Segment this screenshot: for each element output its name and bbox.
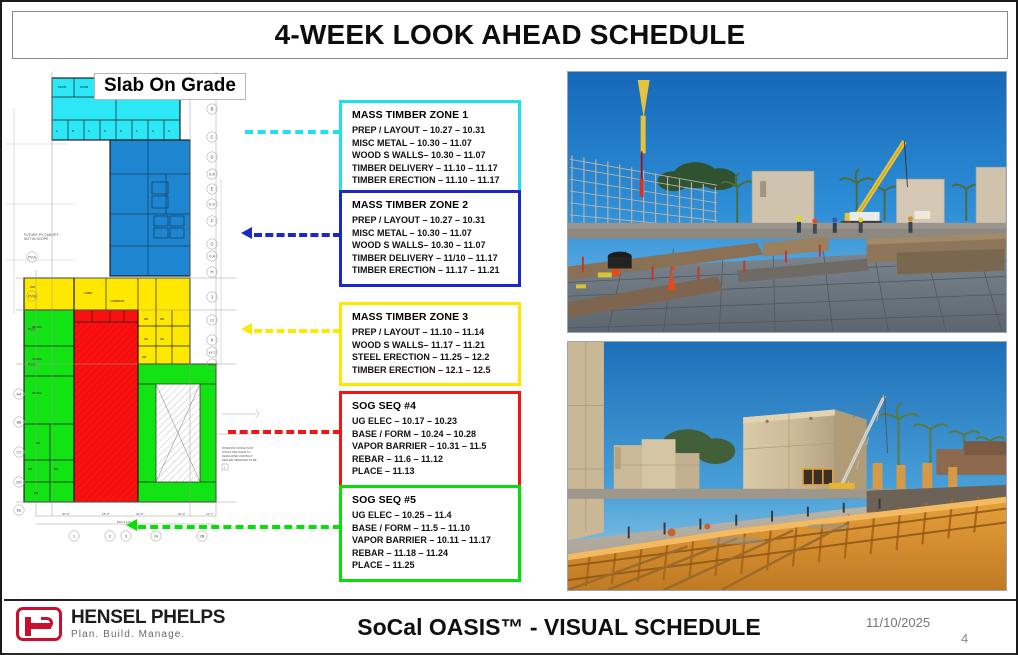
leader-line-sog-5 — [138, 525, 341, 529]
callout-line: TIMBER ERECTION – 11.17 – 11.21 — [352, 264, 510, 277]
floor-plan-svg: FUTURE PV CANOPY NOT IN SCOPE — [6, 64, 324, 592]
svg-text:ROOM: ROOM — [58, 85, 66, 89]
svg-text:DEVELOPED AND BUILT: DEVELOPED AND BUILT — [222, 454, 253, 458]
svg-text:DD: DD — [16, 480, 22, 484]
svg-text:40'-0": 40'-0" — [62, 512, 70, 516]
callout-line: WOOD S WALLS– 11.17 – 11.21 — [352, 339, 510, 352]
svg-text:CORRIDOR: CORRIDOR — [110, 299, 124, 303]
callout-line: STEEL ERECTION – 11.25 – 12.2 — [352, 351, 510, 364]
page-number: 4 — [961, 631, 968, 646]
page-title: 4-WEEK LOOK AHEAD SCHEDULE — [275, 19, 746, 51]
callout-line: WOOD S WALLS– 10.30 – 11.07 — [352, 149, 510, 162]
callout-title: MASS TIMBER ZONE 2 — [352, 199, 510, 211]
zone-2-fill — [110, 140, 190, 276]
svg-text:SECURE SEPARATE TO BE: SECURE SEPARATE TO BE — [222, 458, 257, 462]
callout-line: MISC METAL – 10.30 – 11.07 — [352, 137, 510, 150]
svg-text:SR: SR — [144, 337, 148, 341]
callout-sog-seq-4[interactable]: SOG SEQ #4 UG ELEC – 10.17 – 10.23 BASE … — [339, 391, 521, 488]
svg-text:E: E — [211, 186, 214, 191]
hensel-phelps-logo: HENSEL PHELPS Plan. Build. Manage. — [16, 607, 225, 641]
arrowhead-sog-5-icon — [126, 519, 137, 531]
svg-text:PV.A: PV.A — [28, 255, 36, 259]
svg-text:NOTES SEE ISSUE TO: NOTES SEE ISSUE TO — [222, 450, 251, 454]
svg-text:OFF: OFF — [30, 285, 36, 289]
title-bar: 4-WEEK LOOK AHEAD SCHEDULE — [12, 11, 1008, 59]
svg-text:C: C — [88, 129, 90, 133]
callout-line: PREP / LAYOUT – 11.10 – 11.14 — [352, 326, 510, 339]
callout-line: WOOD S WALLS– 10.30 – 11.07 — [352, 239, 510, 252]
callout-line: UG ELEC – 10.25 – 11.4 — [352, 509, 510, 522]
callout-title: MASS TIMBER ZONE 3 — [352, 311, 510, 323]
svg-text:D: D — [210, 154, 213, 159]
callout-line: TIMBER DELIVERY – 11/10 – 11.17 — [352, 252, 510, 265]
slide-canvas: 4-WEEK LOOK AHEAD SCHEDULE FUTURE PV CAN… — [0, 0, 1018, 655]
svg-text:RM: RM — [144, 317, 148, 321]
svg-text:ROOM: ROOM — [80, 85, 88, 89]
svg-text:RM: RM — [142, 355, 146, 359]
callout-line: VAPOR BARRIER – 10.31 – 11.5 — [352, 440, 510, 453]
svg-text:G: G — [210, 241, 213, 246]
svg-text:RM: RM — [160, 317, 164, 321]
callout-title: SOG SEQ #4 — [352, 400, 510, 412]
callout-line: PREP / LAYOUT – 10.27 – 10.31 — [352, 214, 510, 227]
svg-text:RM: RM — [36, 441, 40, 445]
svg-text:E.S: E.S — [209, 202, 215, 206]
leader-line-sog-4 — [228, 430, 341, 434]
svg-text:KK.3: KK.3 — [209, 350, 216, 354]
svg-text:INTERIOR CONSULTANT: INTERIOR CONSULTANT — [222, 446, 254, 450]
svg-text:H: H — [168, 129, 170, 133]
callout-line: UG ELEC – 10.17 – 10.23 — [352, 415, 510, 428]
callout-mass-timber-zone-3[interactable]: MASS TIMBER ZONE 3 PREP / LAYOUT – 11.10… — [339, 302, 521, 386]
callout-line: TIMBER ERECTION – 11.10 – 11.17 — [352, 174, 510, 187]
svg-text:B: B — [72, 129, 74, 133]
callout-mass-timber-zone-2[interactable]: MASS TIMBER ZONE 2 PREP / LAYOUT – 10.27… — [339, 190, 521, 287]
svg-text:G.A: G.A — [209, 254, 216, 258]
callout-title: MASS TIMBER ZONE 1 — [352, 109, 510, 121]
svg-text:18'-0": 18'-0" — [102, 512, 110, 516]
svg-text:EE: EE — [17, 508, 22, 512]
svg-text:BB: BB — [17, 420, 22, 424]
svg-text:A: A — [56, 129, 58, 133]
svg-text:PV.C: PV.C — [28, 327, 36, 331]
svg-text:CC: CC — [16, 450, 22, 454]
footer-title: SoCal OASIS™ - VISUAL SCHEDULE — [324, 614, 794, 641]
leader-line-zone-3 — [254, 329, 341, 333]
svg-text:J.2: J.2 — [210, 318, 215, 322]
callout-line: BASE / FORM – 10.24 – 10.28 — [352, 428, 510, 441]
callout-line: PLACE – 11.13 — [352, 465, 510, 478]
svg-text:LOBBY: LOBBY — [84, 291, 93, 295]
arrowhead-zone-3-icon — [241, 323, 252, 335]
slide-footer: HENSEL PHELPS Plan. Build. Manage. SoCal… — [4, 599, 1016, 653]
company-tagline: Plan. Build. Manage. — [71, 628, 225, 641]
svg-text:21'-7": 21'-7" — [206, 512, 214, 516]
callout-sog-seq-5[interactable]: SOG SEQ #5 UG ELEC – 10.25 – 11.4 BASE /… — [339, 485, 521, 582]
callout-line: TIMBER ERECTION – 12.1 – 12.5 — [352, 364, 510, 377]
svg-text:RM: RM — [54, 467, 58, 471]
svg-text:SR: SR — [160, 337, 164, 341]
svg-text:2B: 2B — [200, 533, 205, 538]
svg-text:H: H — [210, 269, 213, 274]
plan-title-label: Slab On Grade — [94, 73, 246, 100]
floor-plan-drawing[interactable]: FUTURE PV CANOPY NOT IN SCOPE — [6, 64, 324, 592]
svg-text:KK.S: KK.S — [209, 362, 216, 366]
photo-bottom-graphic — [568, 342, 1006, 590]
svg-text:PV.B: PV.B — [28, 294, 36, 298]
callout-title: SOG SEQ #5 — [352, 494, 510, 506]
svg-text:RM: RM — [28, 467, 32, 471]
callout-line: REBAR – 11.6 – 11.12 — [352, 453, 510, 466]
callout-line: TIMBER DELIVERY – 11.10 – 11.17 — [352, 162, 510, 175]
arrowhead-zone-2-icon — [241, 227, 252, 239]
photo-top-graphic — [568, 72, 1006, 332]
hp-logo-icon — [16, 607, 62, 641]
leader-line-zone-1 — [245, 130, 341, 134]
photo-slab-rebar-and-formwork[interactable] — [567, 71, 1007, 333]
svg-text:NOT IN SCOPE: NOT IN SCOPE — [24, 237, 49, 241]
svg-text:PV.D: PV.D — [28, 362, 36, 366]
svg-text:B: B — [211, 106, 214, 111]
svg-text:D: D — [104, 129, 106, 133]
svg-text:E.A: E.A — [209, 172, 215, 176]
svg-text:J: J — [211, 294, 213, 299]
callout-line: BASE / FORM – 11.5 – 11.10 — [352, 522, 510, 535]
callout-line: REBAR – 11.18 – 11.24 — [352, 547, 510, 560]
svg-text:E: E — [120, 129, 122, 133]
leader-line-zone-2 — [254, 233, 341, 237]
svg-text:F: F — [211, 218, 214, 223]
svg-text:K: K — [211, 337, 214, 342]
callout-line: PLACE – 11.25 — [352, 559, 510, 572]
photo-concrete-walls-and-crane[interactable] — [567, 341, 1007, 591]
callout-mass-timber-zone-1[interactable]: MASS TIMBER ZONE 1 PREP / LAYOUT – 10.27… — [339, 100, 521, 197]
callout-line: VAPOR BARRIER – 10.11 – 11.17 — [352, 534, 510, 547]
svg-text:40'-0": 40'-0" — [136, 512, 144, 516]
svg-text:C: C — [210, 134, 213, 139]
svg-text:G: G — [152, 129, 154, 133]
company-name: HENSEL PHELPS — [71, 608, 225, 628]
svg-text:40'-0": 40'-0" — [178, 512, 186, 516]
footer-date: 11/10/2025 — [866, 615, 930, 630]
svg-text:OFFICE: OFFICE — [32, 391, 42, 395]
callout-line: PREP / LAYOUT – 10.27 – 10.31 — [352, 124, 510, 137]
svg-text:AA: AA — [17, 392, 22, 396]
callout-line: MISC METAL – 10.30 – 11.07 — [352, 227, 510, 240]
